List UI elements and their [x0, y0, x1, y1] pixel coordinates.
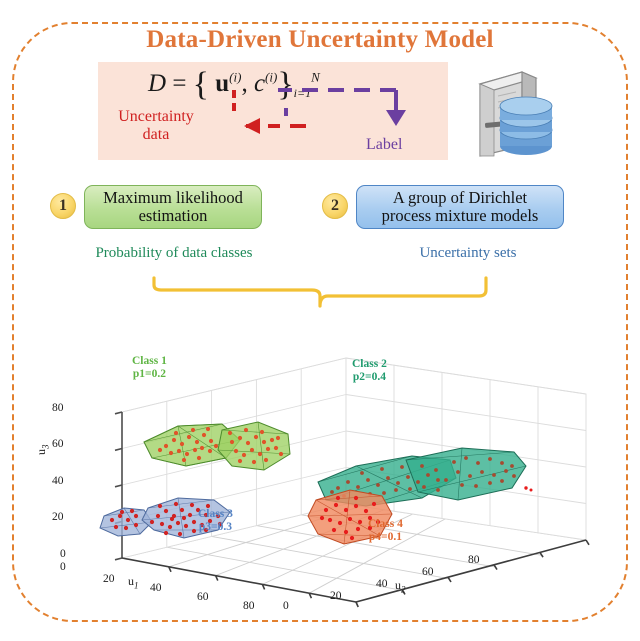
merge-brace-icon [150, 276, 490, 312]
equation-open-brace: { [193, 66, 209, 103]
step-box-1-line1: Maximum likelihood [103, 189, 243, 207]
step-caption-1: Probability of data classes [58, 245, 290, 262]
class-2-name: Class 2 [352, 358, 387, 371]
y-tick-0: 0 [283, 600, 289, 612]
class-4-name: Class 4 [368, 518, 403, 531]
class-4-annotation: Class 4 p4=0.1 [368, 518, 403, 544]
z-axis-label-sub: 3 [40, 445, 50, 450]
equation-lhs: D [148, 70, 166, 97]
equation-equals: = [172, 70, 186, 97]
equation-term1: u [215, 70, 229, 97]
step-box-1-line2: estimation [103, 207, 243, 225]
z-tick-3: 60 [52, 438, 64, 450]
class-2-annotation: Class 2 p2=0.4 [352, 358, 387, 384]
uncertainty-data-label-line2: data [102, 126, 210, 144]
step-badge-1: 1 [50, 193, 76, 219]
y-tick-1: 20 [330, 590, 342, 602]
x-tick-4: 80 [243, 600, 255, 612]
uncertainty-data-label: Uncertainty data [102, 108, 210, 145]
class-4-probability: p4=0.1 [368, 531, 403, 544]
uncertainty-connector-icon [230, 90, 238, 112]
z-axis [115, 412, 122, 560]
class-3-probability: p3=0.3 [198, 521, 233, 534]
x-tick-0: 0 [60, 561, 66, 573]
y-tick-4: 80 [468, 554, 480, 566]
equation-comma: , [241, 70, 247, 97]
x-tick-3: 60 [197, 591, 209, 603]
class-2-probability: p2=0.4 [352, 371, 387, 384]
z-axis-label-base: u [34, 449, 48, 455]
step-box-2-line2: process mixture models [382, 207, 539, 225]
z-tick-1: 20 [52, 511, 64, 523]
class-3-name: Class 3 [198, 508, 233, 521]
step-caption-2: Uncertainty sets [372, 245, 564, 262]
z-tick-0: 0 [60, 548, 66, 560]
y-tick-3: 60 [422, 566, 434, 578]
y-axis-label-sub: 2 [401, 584, 406, 594]
step-badge-2: 2 [322, 193, 348, 219]
z-tick-4: 80 [52, 402, 64, 414]
database-server-icon [470, 66, 556, 158]
formula-panel: D = { u(i), c(i)}i=1N Uncertainty data [98, 62, 448, 160]
x-axis-label: u1 [128, 574, 139, 590]
z-tick-2: 40 [52, 475, 64, 487]
class-1-annotation: Class 1 p1=0.2 [132, 355, 167, 381]
class-1-name: Class 1 [132, 355, 167, 368]
y-axis-label: u2 [395, 578, 406, 594]
equation-term1-sup: (i) [229, 70, 241, 85]
equation-term2: c [254, 70, 265, 97]
label-arrow-icon [274, 70, 418, 136]
step-box-dirichlet-process[interactable]: A group of Dirichlet process mixture mod… [356, 185, 564, 229]
page-title: Data-Driven Uncertainty Model [0, 26, 640, 54]
figure-root: Data-Driven Uncertainty Model D = { u(i)… [0, 0, 640, 641]
class-3-annotation: Class 3 p3=0.3 [198, 508, 233, 534]
x-tick-2: 40 [150, 582, 162, 594]
step-box-2-line1: A group of Dirichlet [382, 189, 539, 207]
z-axis-label: u3 [34, 445, 50, 456]
x-tick-1: 20 [103, 573, 115, 585]
class-1-probability: p1=0.2 [132, 368, 167, 381]
step-box-maximum-likelihood[interactable]: Maximum likelihood estimation [84, 185, 262, 229]
x-axis-label-sub: 1 [134, 580, 139, 590]
caption-bottom [0, 627, 640, 641]
caption-top [0, 0, 640, 9]
y-tick-2: 40 [376, 578, 388, 590]
label-text: Label [366, 136, 402, 154]
uncertainty-data-label-line1: Uncertainty [102, 108, 210, 126]
